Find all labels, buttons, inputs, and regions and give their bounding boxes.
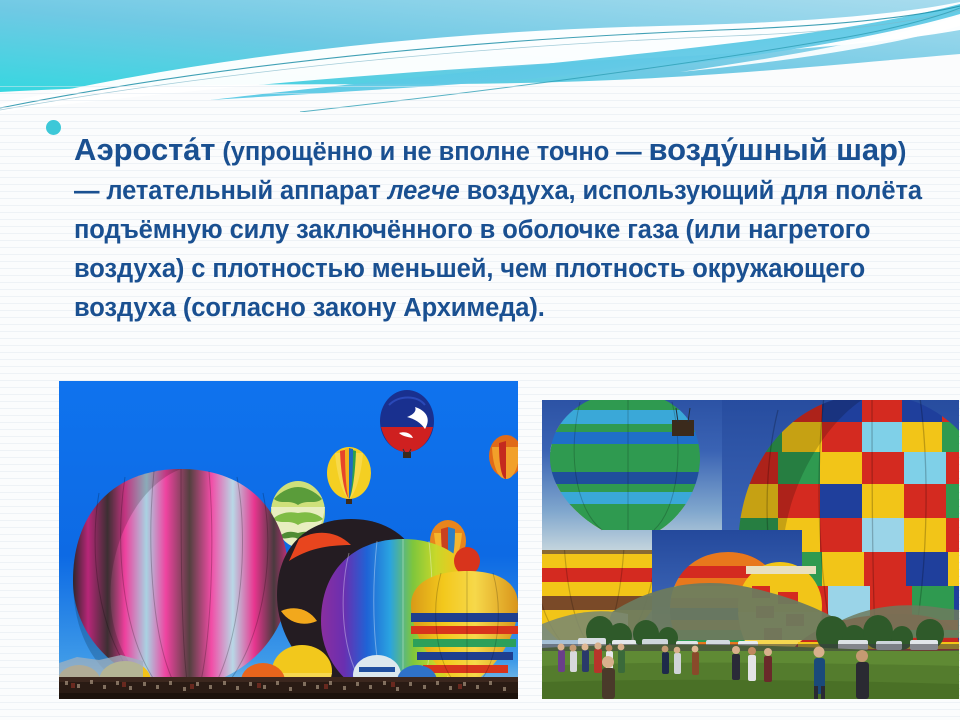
- decorative-banner: [0, 0, 960, 112]
- content-placeholder: Аэроста́т (упрощённо и не вполне точно —…: [46, 104, 926, 353]
- bullet-dot-icon: [46, 120, 61, 135]
- photo-balloons-left: [59, 381, 518, 699]
- presentation-slide: Аэроста́т (упрощённо и не вполне точно —…: [0, 0, 960, 720]
- paren-open-text: (упрощённо и не вполне точно —: [215, 138, 648, 166]
- emphasis-legche: легче: [388, 177, 460, 205]
- term-vozdushny-shar: возду́шный шар: [649, 132, 898, 167]
- term-aerostat: Аэроста́т: [74, 132, 215, 167]
- bullet-list-item: Аэроста́т (упрощённо и не вполне точно —…: [46, 104, 926, 353]
- photo-balloons-right: [542, 400, 959, 699]
- body-paragraph: Аэроста́т (упрощённо и не вполне точно —…: [74, 130, 926, 328]
